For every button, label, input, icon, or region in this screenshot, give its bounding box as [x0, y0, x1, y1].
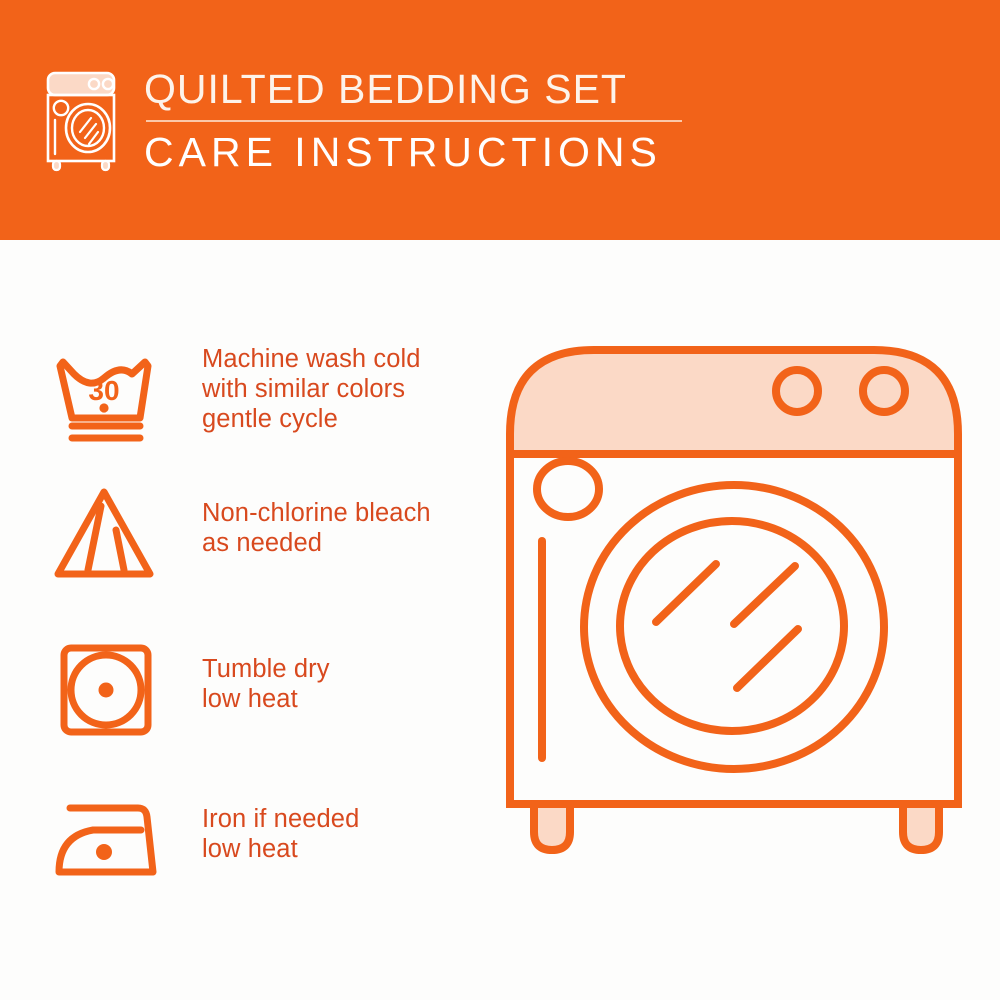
care-text-bleach: Non-chlorine bleach as needed — [202, 482, 431, 558]
care-line: low heat — [202, 684, 330, 714]
indicator-circle — [537, 461, 599, 517]
care-text-tumble-dry: Tumble dry low heat — [202, 638, 330, 714]
care-item-machine-wash: 30 Machine wash cold with similar colors… — [46, 344, 486, 448]
care-line: with similar colors — [202, 374, 421, 404]
header-band: QUILTED BEDDING SET CARE INSTRUCTIONS — [0, 0, 1000, 240]
title-divider — [146, 120, 682, 122]
page-title: QUILTED BEDDING SET — [144, 66, 682, 112]
care-line: gentle cycle — [202, 404, 421, 434]
tumble-dry-low-heat-icon — [46, 638, 166, 742]
care-symbol-bleach — [46, 482, 166, 586]
iron-low-heat-icon — [46, 788, 166, 892]
care-instructions-list: 30 Machine wash cold with similar colors… — [0, 240, 500, 1000]
care-instructions-page: QUILTED BEDDING SET CARE INSTRUCTIONS 30… — [0, 0, 1000, 1000]
header-content: QUILTED BEDDING SET CARE INSTRUCTIONS — [44, 66, 682, 175]
non-chlorine-bleach-triangle-icon — [46, 482, 166, 586]
care-symbol-iron — [46, 788, 166, 892]
iron-heat-dot — [96, 844, 112, 860]
wash-heat-dot — [99, 403, 108, 412]
control-knob-right[interactable] — [863, 370, 905, 412]
machine-body — [510, 454, 958, 804]
wash-temperature-label: 30 — [88, 375, 119, 406]
care-line: low heat — [202, 834, 359, 864]
care-line: as needed — [202, 528, 431, 558]
header-title-block: QUILTED BEDDING SET CARE INSTRUCTIONS — [144, 66, 682, 175]
machine-wash-tub-icon: 30 — [46, 344, 166, 448]
control-knob-left[interactable] — [776, 370, 818, 412]
care-item-bleach: Non-chlorine bleach as needed — [46, 482, 486, 586]
care-line: Non-chlorine bleach — [202, 498, 431, 528]
care-line: Iron if needed — [202, 804, 359, 834]
care-symbol-machine-wash: 30 — [46, 344, 166, 448]
care-line: Tumble dry — [202, 654, 330, 684]
care-line: Machine wash cold — [202, 344, 421, 374]
care-item-iron: Iron if needed low heat — [46, 788, 486, 892]
care-symbol-tumble-dry — [46, 638, 166, 742]
leg-left — [534, 804, 570, 850]
front-load-washing-machine-illustration — [484, 326, 984, 946]
door-highlight-lines — [656, 564, 798, 688]
dry-heat-dot — [99, 683, 114, 698]
page-subtitle: CARE INSTRUCTIONS — [144, 129, 682, 175]
care-item-tumble-dry: Tumble dry low heat — [46, 638, 486, 742]
leg-right — [903, 804, 939, 850]
washing-machine-icon — [44, 70, 122, 174]
care-text-machine-wash: Machine wash cold with similar colors ge… — [202, 344, 421, 434]
care-text-iron: Iron if needed low heat — [202, 788, 359, 864]
